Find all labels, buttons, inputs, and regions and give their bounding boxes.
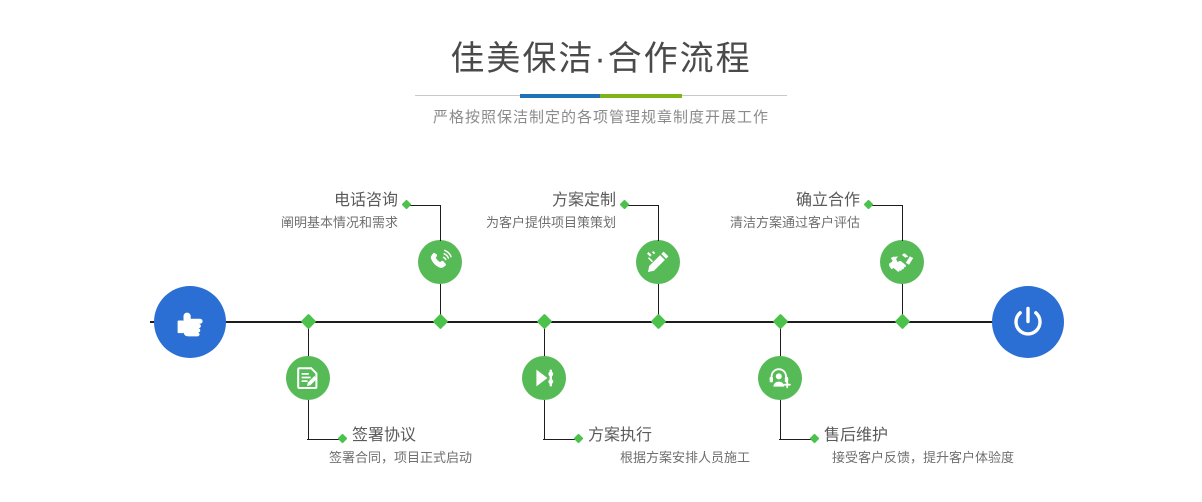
step-icon-phone-consult[interactable] [418, 240, 462, 284]
step-label-after-sales: 售后维护 接受客户反馈，提升客户体验度 [824, 425, 1124, 468]
timeline-axis [150, 321, 1050, 323]
pointing-hand-icon [170, 302, 210, 342]
step-icon-after-sales[interactable] [758, 356, 802, 400]
document-sign-icon [295, 365, 321, 391]
leader-bullet-plan-customize [620, 200, 630, 210]
timeline-start-node[interactable] [154, 286, 226, 358]
pencil-edit-icon [645, 249, 671, 275]
leader-vertical-sign-agreement [308, 400, 310, 439]
step-label-plan-customize: 方案定制 为客户提供项目策策划 [421, 190, 616, 233]
customer-support-icon [767, 365, 793, 391]
step-title: 售后维护 [824, 425, 1124, 447]
process-flow-diagram: 佳美保洁·合作流程 严格按照保洁制定的各项管理规章制度开展工作 [0, 0, 1202, 502]
power-icon [1007, 301, 1049, 343]
leader-vertical-plan-customize [658, 205, 660, 241]
step-label-establish-cooperation: 确立合作 清洁方案通过客户评估 [665, 190, 860, 233]
handshake-icon [889, 249, 915, 275]
leader-vertical-plan-execute [544, 400, 546, 439]
leader-horizontal-plan-execute [543, 439, 576, 441]
divider-segment-green [600, 94, 682, 98]
leader-horizontal-plan-customize [626, 205, 658, 207]
step-desc: 根据方案安排人员施工 [620, 447, 848, 468]
leader-bullet-phone-consult [402, 200, 412, 210]
timeline-marker-phone-consult [432, 314, 448, 330]
timeline-end-node[interactable] [992, 286, 1064, 358]
step-title: 确立合作 [665, 190, 860, 212]
leader-bullet-establish-cooperation [864, 200, 874, 210]
step-icon-sign-agreement[interactable] [286, 356, 330, 400]
leader-horizontal-sign-agreement [307, 439, 340, 441]
timeline-marker-plan-execute [536, 314, 552, 330]
leader-vertical-after-sales [780, 400, 782, 439]
step-title: 方案定制 [421, 190, 616, 212]
step-desc: 清洁方案通过客户评估 [665, 212, 860, 233]
step-icon-plan-customize[interactable] [636, 240, 680, 284]
header: 佳美保洁·合作流程 严格按照保洁制定的各项管理规章制度开展工作 [0, 0, 1202, 140]
step-label-plan-execute: 方案执行 根据方案安排人员施工 [588, 425, 848, 468]
leader-horizontal-after-sales [779, 439, 812, 441]
leader-vertical-establish-cooperation [902, 205, 904, 241]
timeline-marker-plan-customize [650, 314, 666, 330]
leader-bullet-sign-agreement [338, 434, 348, 444]
timeline-marker-after-sales [772, 314, 788, 330]
step-icon-plan-execute[interactable] [522, 356, 566, 400]
page-subtitle: 严格按照保洁制定的各项管理规章制度开展工作 [0, 107, 1202, 129]
step-desc: 为客户提供项目策策划 [421, 212, 616, 233]
timeline-marker-sign-agreement [300, 314, 316, 330]
divider-segment-blue [520, 94, 600, 98]
step-desc: 接受客户反馈，提升客户体验度 [832, 447, 1124, 468]
step-label-phone-consult: 电话咨询 阐明基本情况和需求 [203, 190, 398, 233]
timeline-marker-establish-cooperation [894, 314, 910, 330]
title-divider [415, 95, 787, 96]
page-title: 佳美保洁·合作流程 [0, 38, 1202, 80]
step-label-sign-agreement: 签署协议 签署合同，项目正式启动 [352, 425, 612, 468]
step-title: 方案执行 [588, 425, 848, 447]
leader-horizontal-establish-cooperation [870, 205, 902, 207]
step-title: 电话咨询 [203, 190, 398, 212]
step-desc: 阐明基本情况和需求 [203, 212, 398, 233]
step-icon-establish-cooperation[interactable] [880, 240, 924, 284]
step-desc: 签署合同，项目正式启动 [329, 447, 612, 468]
step-title: 签署协议 [352, 425, 612, 447]
play-execute-icon [531, 365, 557, 391]
phone-call-icon [427, 249, 453, 275]
